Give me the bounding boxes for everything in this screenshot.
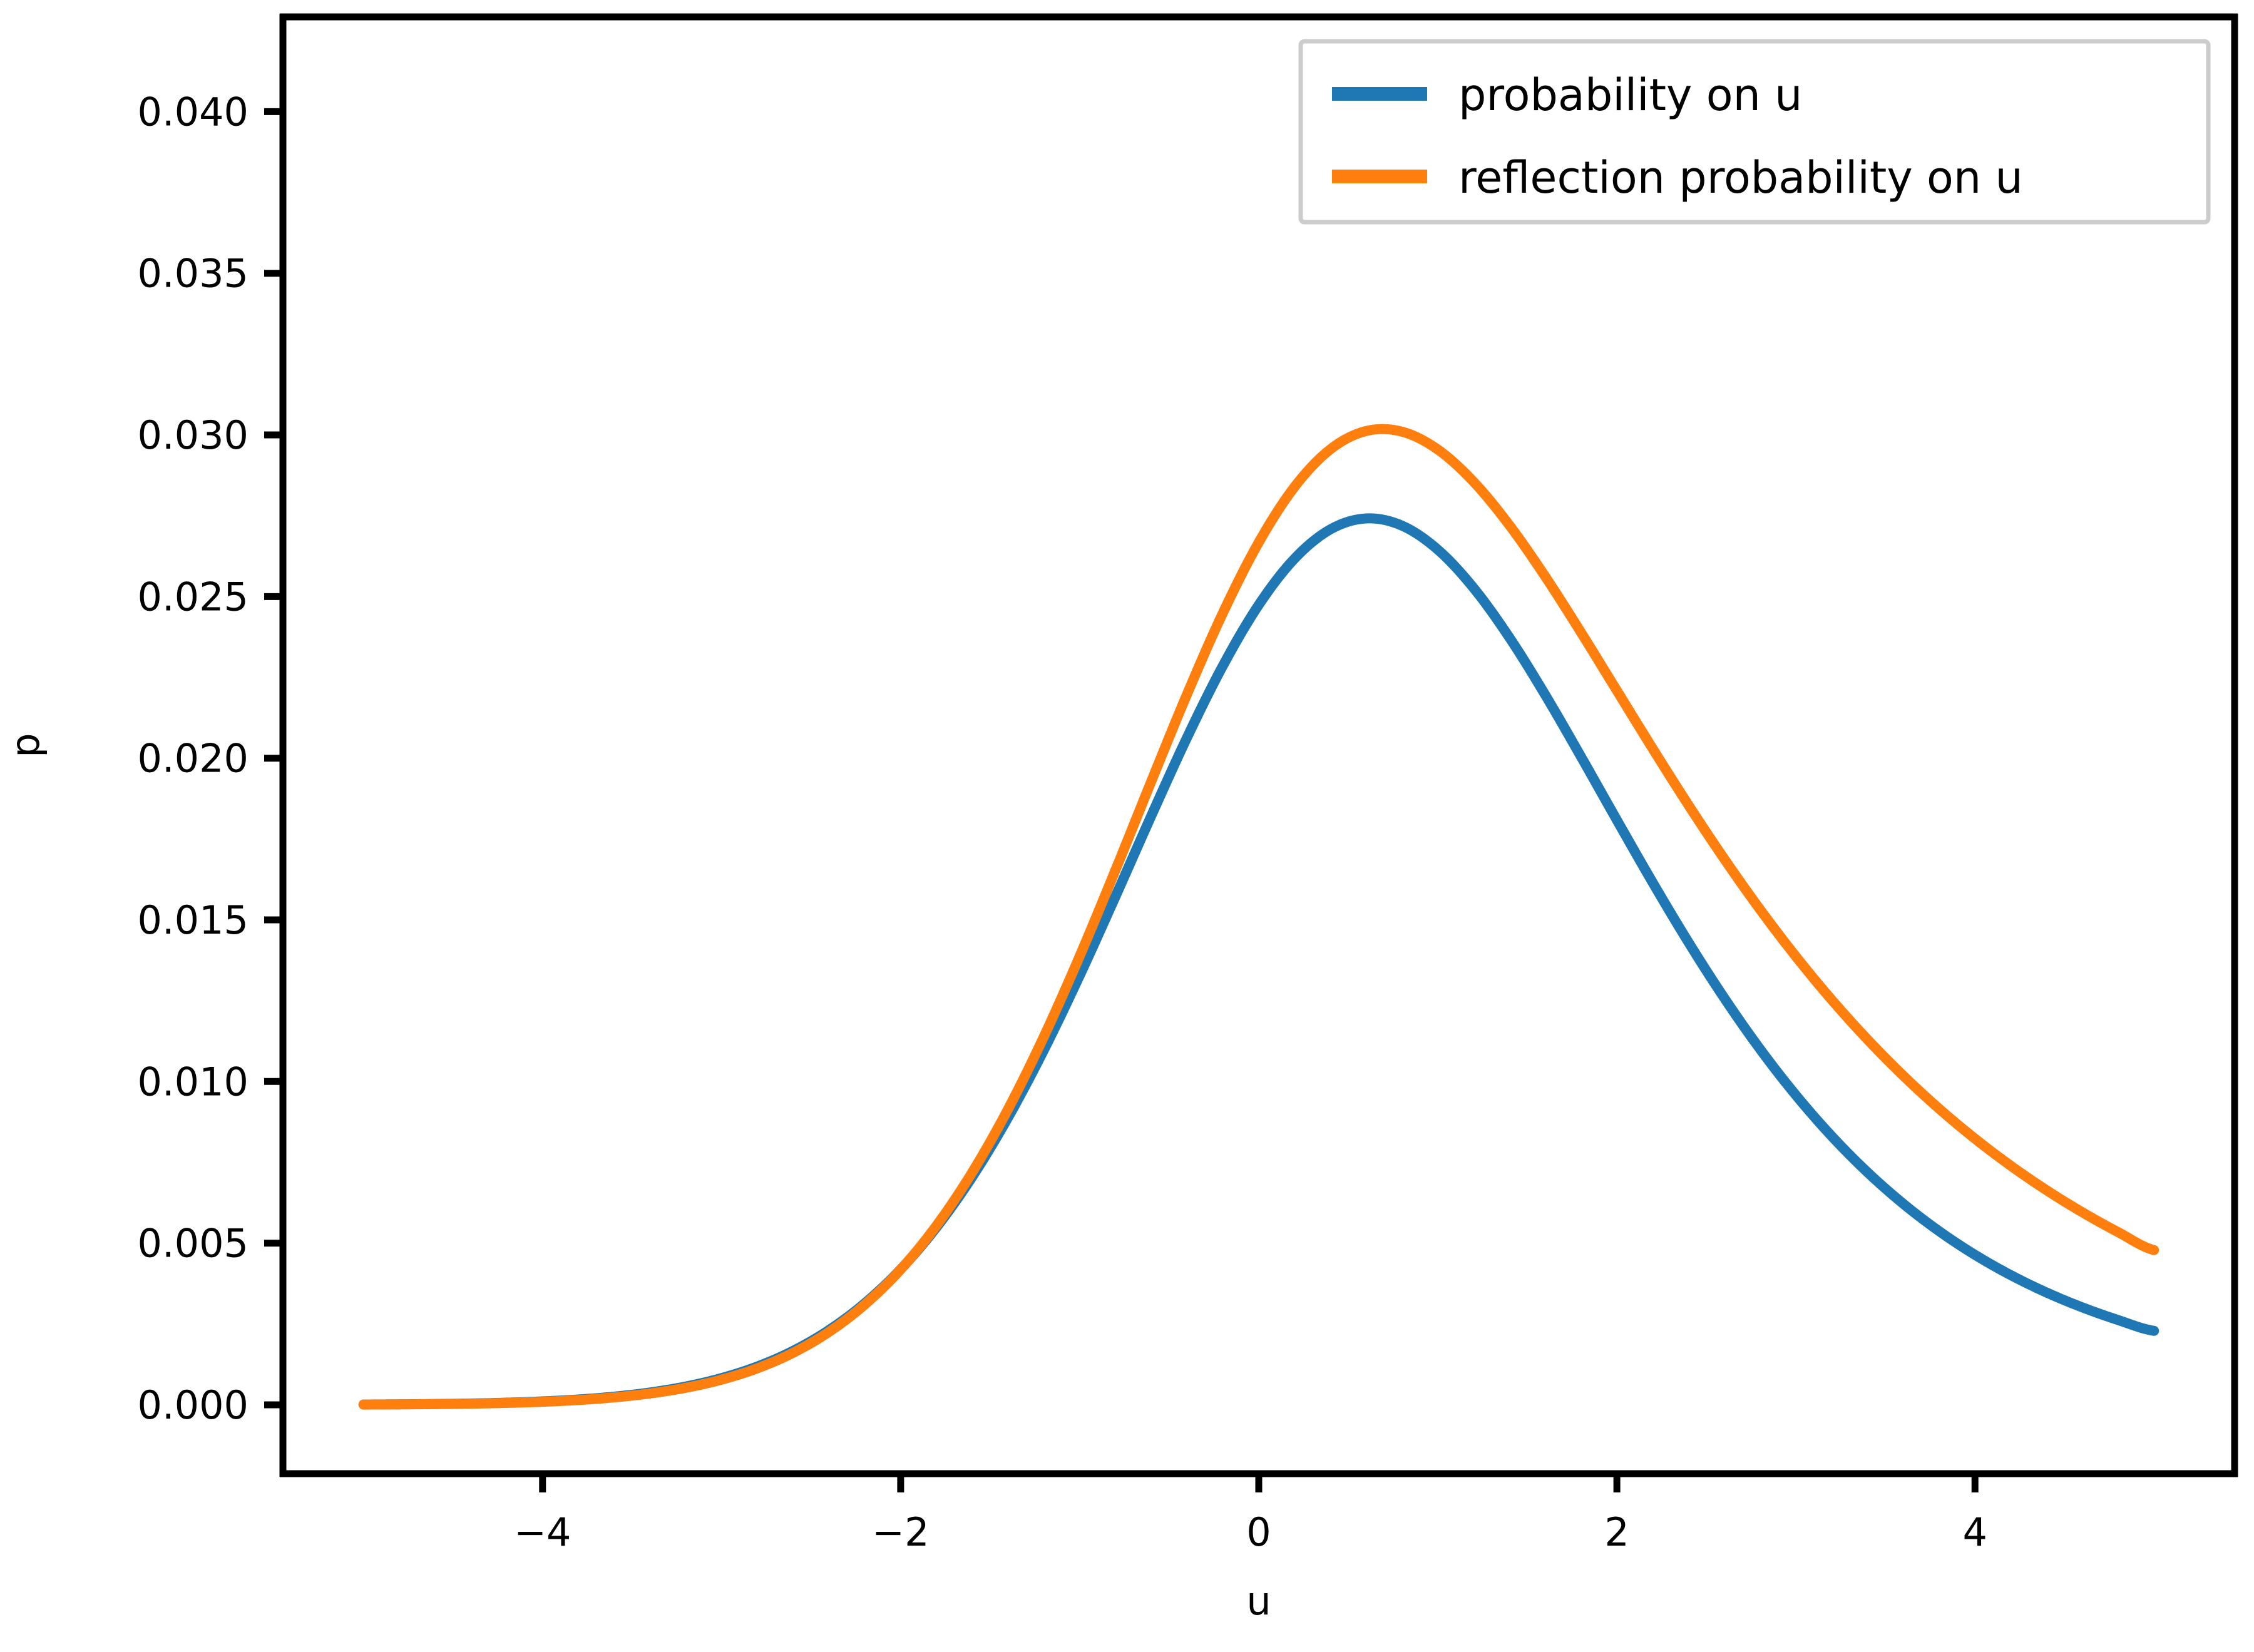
y-tick-label: 0.010 bbox=[138, 1059, 249, 1104]
x-tick-label: 0 bbox=[1246, 1509, 1271, 1555]
matplotlib-figure: 0.0000.0050.0100.0150.0200.0250.0300.035… bbox=[0, 0, 2254, 1652]
line-chart: 0.0000.0050.0100.0150.0200.0250.0300.035… bbox=[0, 0, 2254, 1652]
x-tick-label: −4 bbox=[514, 1509, 571, 1555]
y-tick-label: 0.030 bbox=[138, 412, 249, 458]
y-tick-label: 0.005 bbox=[138, 1221, 249, 1267]
legend-label-1: reflection probability on u bbox=[1458, 152, 2023, 203]
y-tick-label: 0.025 bbox=[138, 574, 249, 619]
x-axis-label: u bbox=[1246, 1578, 1271, 1624]
legend-label-0: probability on u bbox=[1458, 69, 1803, 121]
y-tick-label: 0.000 bbox=[138, 1382, 249, 1428]
x-tick-label: 2 bbox=[1604, 1509, 1629, 1555]
y-tick-label: 0.040 bbox=[138, 89, 249, 135]
y-tick-label: 0.015 bbox=[138, 897, 249, 943]
x-tick-label: −2 bbox=[872, 1509, 929, 1555]
y-axis-label: p bbox=[3, 733, 48, 757]
x-tick-label: 4 bbox=[1962, 1509, 1987, 1555]
y-tick-label: 0.035 bbox=[138, 251, 249, 297]
legend[interactable]: probability on ureflection probability o… bbox=[1301, 41, 2208, 222]
axes-background bbox=[280, 14, 2238, 1477]
y-tick-label: 0.020 bbox=[138, 736, 249, 782]
